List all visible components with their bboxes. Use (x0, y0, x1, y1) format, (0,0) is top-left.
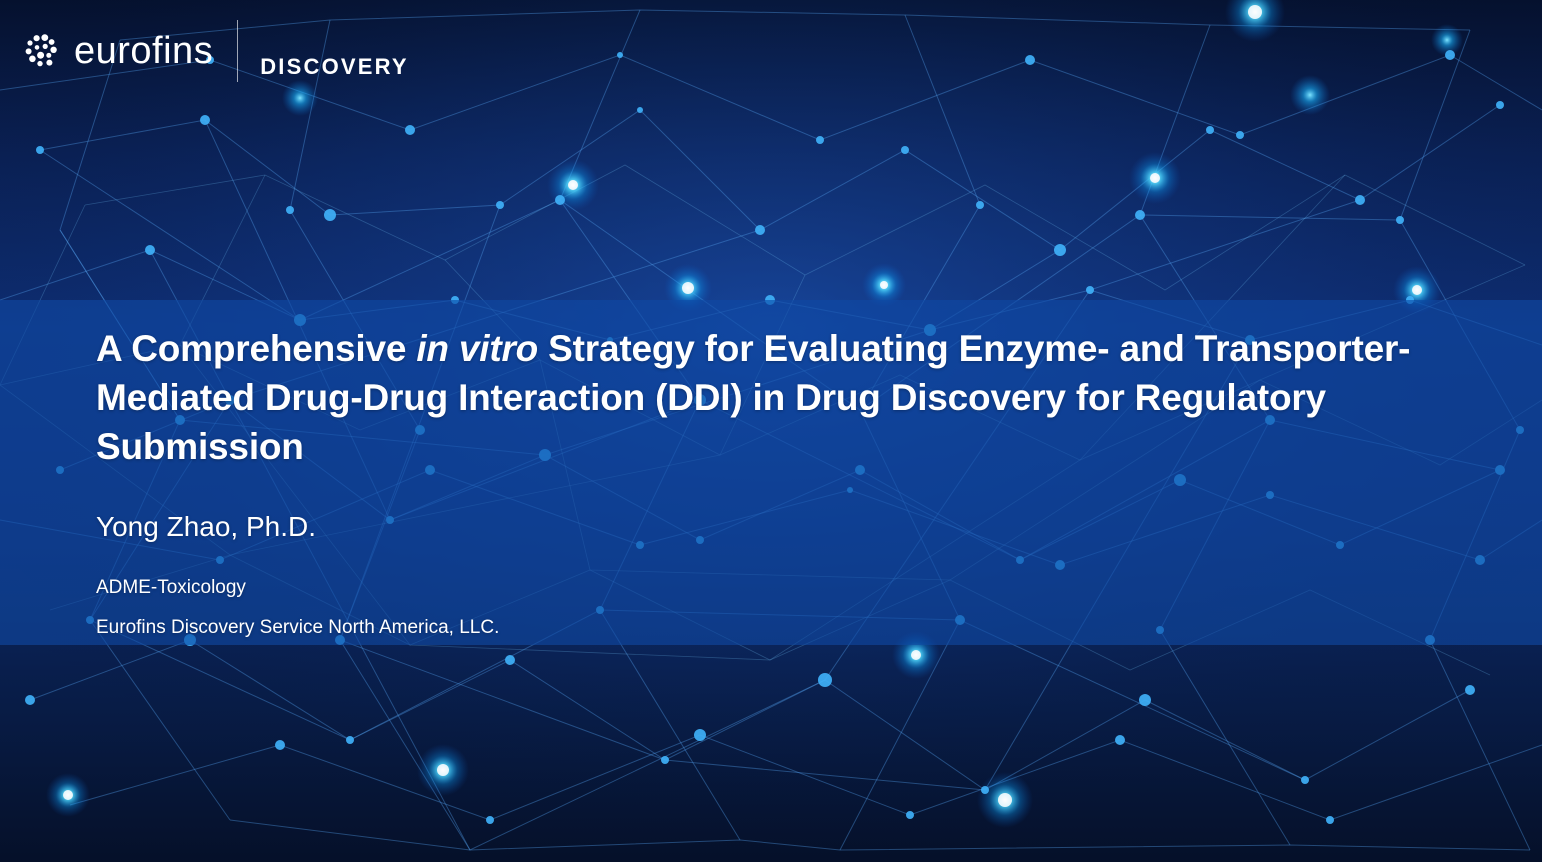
title-part-1: A Comprehensive (96, 328, 416, 369)
presenter-department: ADME-Toxicology (96, 578, 1436, 597)
discovery-subbrand-label: DISCOVERY (260, 56, 409, 86)
logo-divider (237, 20, 238, 82)
brand-logo-lockup: eurofins DISCOVERY (22, 16, 409, 86)
presenter-organization: Eurofins Discovery Service North America… (96, 618, 1436, 637)
presenter-name: Yong Zhao, Ph.D. (96, 513, 1436, 541)
title-italic-in-vitro: in vitro (416, 328, 538, 369)
slide-text-block: A Comprehensive in vitro Strategy for Ev… (96, 325, 1436, 637)
eurofins-dot-cluster-logo-icon (22, 30, 64, 72)
presentation-slide: eurofins DISCOVERY A Comprehensive in vi… (0, 0, 1542, 862)
eurofins-wordmark: eurofins (74, 32, 213, 70)
page-title: A Comprehensive in vitro Strategy for Ev… (96, 325, 1436, 471)
